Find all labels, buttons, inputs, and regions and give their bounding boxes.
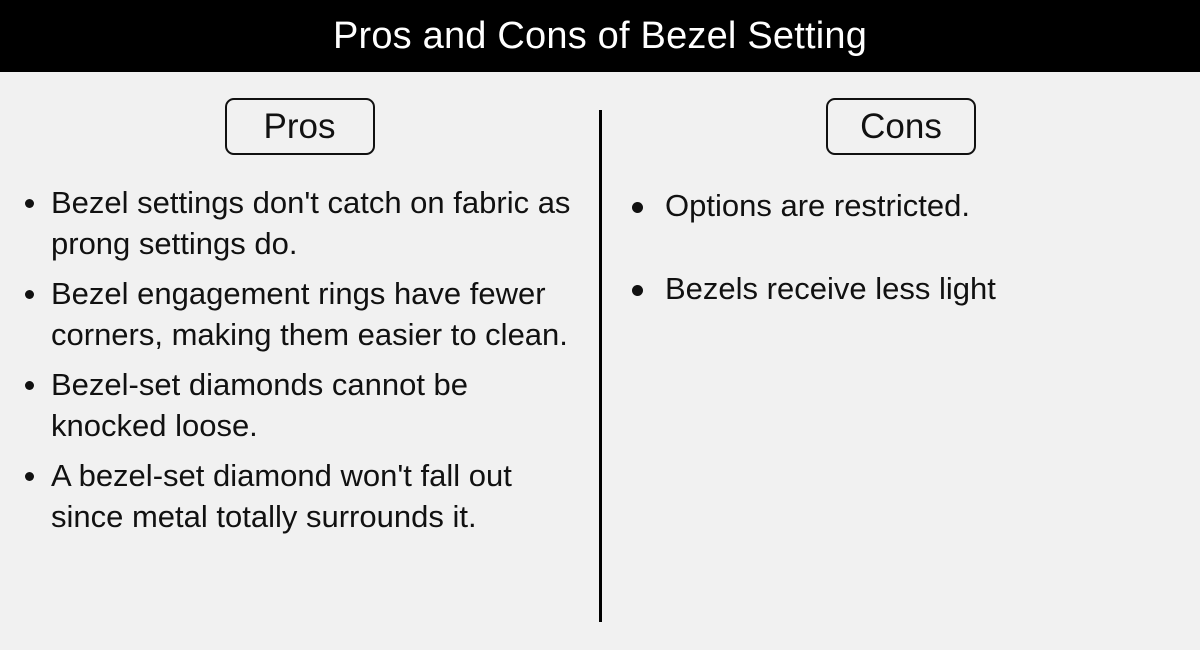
pros-heading-row: Pros [0, 98, 607, 155]
bullet-dot-icon [25, 199, 34, 208]
bullet-dot-icon [632, 202, 643, 213]
cons-column: Cons Options are restricted. Bezels rece… [602, 72, 1200, 650]
cons-heading-chip: Cons [826, 98, 976, 155]
cons-heading-label: Cons [860, 109, 942, 144]
list-item: Bezel settings don't catch on fabric as … [16, 182, 591, 264]
list-item-text: Bezels receive less light [665, 268, 1177, 309]
list-item: A bezel-set diamond won't fall out since… [16, 455, 591, 537]
list-item-text: Bezel-set diamonds cannot be knocked loo… [51, 364, 591, 446]
page-title: Pros and Cons of Bezel Setting [333, 17, 867, 55]
bullet-dot-icon [632, 285, 643, 296]
list-item: Bezel engagement rings have fewer corner… [16, 273, 591, 355]
list-item-text: Bezel settings don't catch on fabric as … [51, 182, 591, 264]
bullet-dot-icon [25, 290, 34, 299]
list-item-text: Bezel engagement rings have fewer corner… [51, 273, 591, 355]
title-banner: Pros and Cons of Bezel Setting [0, 0, 1200, 72]
bullet-dot-icon [25, 381, 34, 390]
cons-heading-row: Cons [602, 98, 1200, 155]
list-item: Options are restricted. [632, 185, 1177, 226]
pros-heading-chip: Pros [225, 98, 375, 155]
bullet-dot-icon [25, 472, 34, 481]
cons-list: Options are restricted. Bezels receive l… [632, 185, 1177, 351]
columns-area: Pros Bezel settings don't catch on fabri… [0, 72, 1200, 650]
list-item-text: A bezel-set diamond won't fall out since… [51, 455, 591, 537]
pros-column: Pros Bezel settings don't catch on fabri… [0, 72, 599, 650]
list-item: Bezels receive less light [632, 268, 1177, 309]
pros-cons-infographic: Pros and Cons of Bezel Setting Pros Beze… [0, 0, 1200, 650]
list-item: Bezel-set diamonds cannot be knocked loo… [16, 364, 591, 446]
list-item-text: Options are restricted. [665, 185, 1177, 226]
pros-list: Bezel settings don't catch on fabric as … [16, 182, 591, 546]
pros-heading-label: Pros [264, 109, 336, 144]
